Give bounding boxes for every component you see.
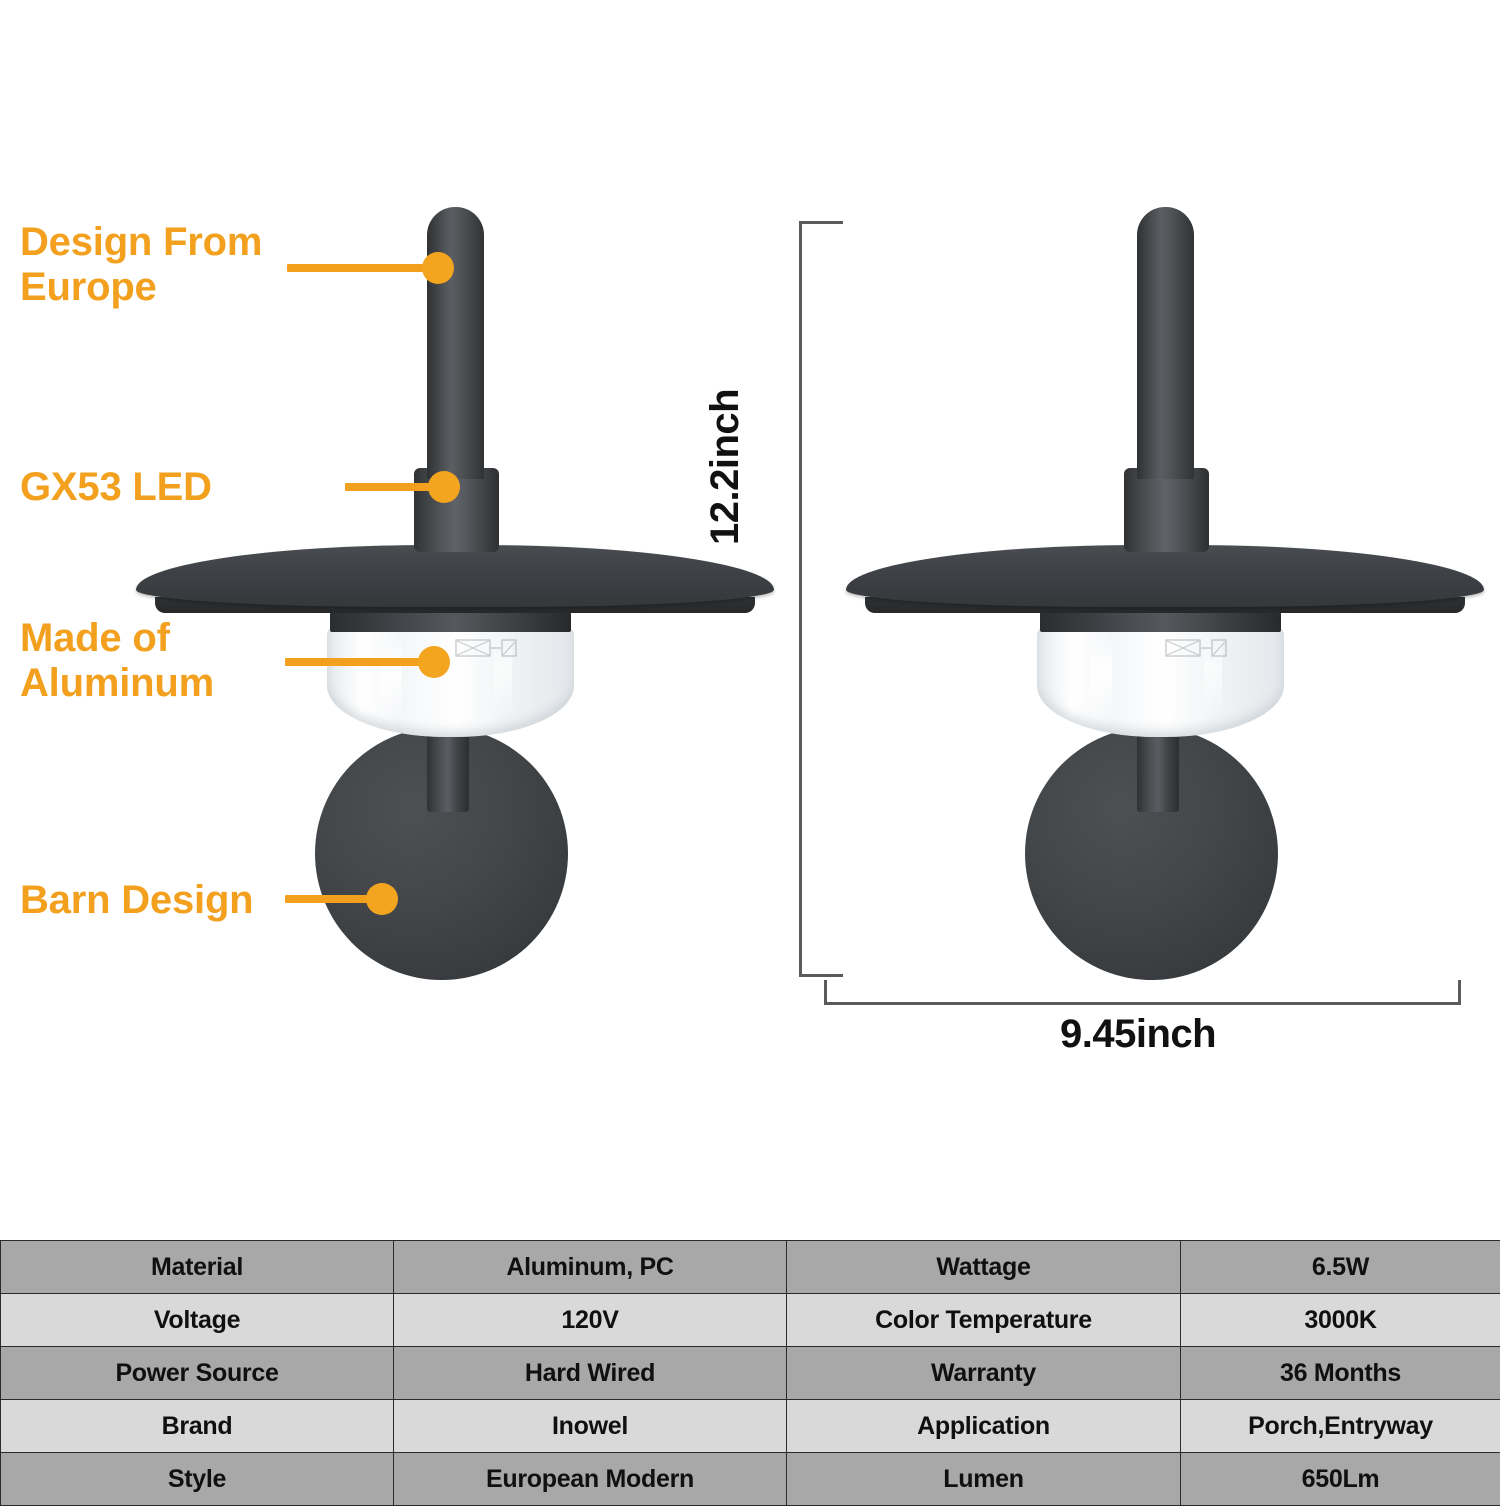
lamp-shade-left [136,545,774,607]
spec-value: 6.5W [1181,1241,1500,1294]
diffuser-highlight-right [1090,636,1112,722]
lamp-shade-right [846,545,1484,607]
dimension-width-label: 9.45inch [1060,1012,1216,1057]
table-row: Voltage 120V Color Temperature 3000K [1,1294,1500,1347]
table-row: Power Source Hard Wired Warranty 36 Mont… [1,1347,1500,1400]
spec-key: Lumen [787,1453,1181,1506]
lamp-collar-right [1124,468,1209,552]
lamp-diffuser-collar-left [330,610,571,632]
lamp-diffuser-left [327,625,574,737]
spec-value: Aluminum, PC [394,1241,787,1294]
spec-value: Inowel [394,1400,787,1453]
callout-dot-gx53-led [428,471,460,503]
dimension-height-bracket-bottom-tick [799,974,843,977]
callout-leader-made-of-aluminum [285,658,440,666]
dimension-height-bracket-top-tick [799,221,843,224]
spec-value: Porch,Entryway [1181,1400,1500,1453]
spec-value: 36 Months [1181,1347,1500,1400]
spec-key: Color Temperature [787,1294,1181,1347]
spec-key: Wattage [787,1241,1181,1294]
callout-dot-design-from-europe [422,252,454,284]
callout-label-barn-design: Barn Design [20,878,320,923]
callout-label-gx53-led: GX53 LED [20,465,320,510]
recycle-mark-icon-left [455,636,517,660]
spec-value: 650Lm [1181,1453,1500,1506]
spec-key: Material [1,1241,394,1294]
recycle-mark-icon-right [1165,636,1227,660]
spec-key: Application [787,1400,1181,1453]
diffuser-highlight-left [380,636,402,722]
spec-key: Power Source [1,1347,394,1400]
callout-label-design-from-europe: Design From Europe [20,220,320,310]
table-row: Material Aluminum, PC Wattage 6.5W [1,1241,1500,1294]
callout-leader-design-from-europe [287,264,442,272]
dimension-width-bracket-right-tick [1458,980,1461,1005]
dimension-width-bracket-span [824,1002,1461,1005]
lamp-arm-right [1137,207,1194,479]
dimension-width-bracket-left-tick [824,980,827,1005]
spec-key: Style [1,1453,394,1506]
spec-key: Brand [1,1400,394,1453]
table-row: Style European Modern Lumen 650Lm [1,1453,1500,1506]
spec-table: Material Aluminum, PC Wattage 6.5W Volta… [0,1240,1500,1506]
spec-key: Warranty [787,1347,1181,1400]
product-image-right [710,0,1500,1020]
spec-table-body: Material Aluminum, PC Wattage 6.5W Volta… [1,1241,1500,1506]
infographic-canvas: Design From Europe GX53 LED Made of Alum… [0,0,1500,1500]
callout-dot-made-of-aluminum [418,646,450,678]
product-image-left [0,0,790,1020]
spec-value: 120V [394,1294,787,1347]
callout-dot-barn-design [366,883,398,915]
table-row: Brand Inowel Application Porch,Entryway [1,1400,1500,1453]
spec-value: Hard Wired [394,1347,787,1400]
spec-value: 3000K [1181,1294,1500,1347]
lamp-diffuser-collar-right [1040,610,1281,632]
dimension-height-label: 12.2inch [703,389,748,545]
spec-key: Voltage [1,1294,394,1347]
dimension-height-bracket-stem [799,221,802,977]
spec-value: European Modern [394,1453,787,1506]
lamp-diffuser-right [1037,625,1284,737]
lamp-arm-left [427,207,484,479]
